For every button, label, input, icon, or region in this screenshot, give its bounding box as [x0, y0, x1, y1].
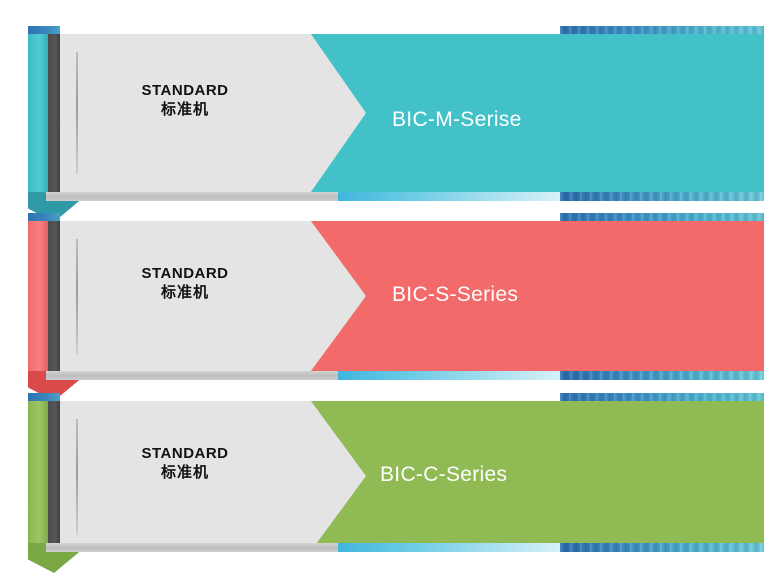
- band-bic-c[interactable]: STANDARD 标准机 BIC-C-Series: [0, 393, 764, 551]
- standard-arrow-panel[interactable]: [60, 221, 366, 371]
- edge-top-cap: [28, 393, 60, 401]
- left-edge-bar: [28, 34, 49, 192]
- edge-top-cap: [28, 26, 60, 34]
- band-bic-m[interactable]: STANDARD 标准机 BIC-M-Serise: [0, 26, 764, 192]
- series-label-bic-s: BIC-S-Series: [392, 283, 518, 307]
- top-blue-cap-strip: [560, 26, 764, 34]
- top-blue-cap-strip: [560, 393, 764, 401]
- standard-arrow-panel[interactable]: [60, 34, 366, 192]
- under-blue-strip: [560, 371, 764, 380]
- dark-spine: [48, 221, 61, 371]
- left-edge-bar: [28, 221, 49, 371]
- edge-top-cap: [28, 213, 60, 221]
- standard-arrow-panel[interactable]: [60, 401, 366, 551]
- under-blue-strip: [560, 192, 764, 201]
- series-label-bic-c: BIC-C-Series: [380, 463, 507, 487]
- under-blue-strip: [560, 543, 764, 552]
- dark-spine: [48, 34, 61, 192]
- dark-spine: [48, 401, 61, 551]
- under-shadow-plate: [46, 543, 338, 552]
- panel-divider-rule: [76, 52, 78, 174]
- product-series-diagram: STANDARD 标准机 BIC-M-Serise STANDARD 标准机 B…: [0, 0, 764, 575]
- panel-divider-rule: [76, 419, 78, 535]
- under-shadow-plate: [46, 371, 338, 380]
- series-label-bic-m: BIC-M-Serise: [392, 108, 522, 132]
- top-blue-cap-strip: [560, 213, 764, 221]
- under-shadow-plate: [46, 192, 338, 201]
- panel-divider-rule: [76, 239, 78, 355]
- left-edge-bar: [28, 401, 49, 551]
- band-bic-s[interactable]: STANDARD 标准机 BIC-S-Series: [0, 213, 764, 371]
